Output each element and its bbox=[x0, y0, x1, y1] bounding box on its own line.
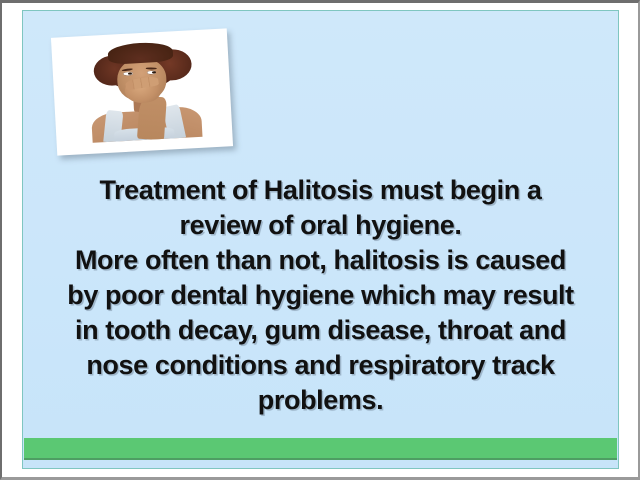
body-line: in tooth decay, gum disease, throat and bbox=[33, 313, 608, 348]
slide-body-text: Treatment of Halitosis must begin a revi… bbox=[23, 173, 618, 418]
photo-card bbox=[51, 28, 233, 155]
hair-top-shape bbox=[108, 41, 174, 64]
woman-covering-mouth-image bbox=[60, 38, 223, 144]
photo-image bbox=[60, 38, 223, 144]
body-line: nose conditions and respiratory track bbox=[33, 348, 608, 383]
slide-content-area: Treatment of Halitosis must begin a revi… bbox=[22, 10, 619, 469]
slide-paper: Treatment of Halitosis must begin a revi… bbox=[2, 3, 638, 477]
body-line: More often than not, halitosis is caused bbox=[33, 243, 608, 278]
body-line: review of oral hygiene. bbox=[33, 208, 608, 243]
footer-band bbox=[24, 438, 617, 460]
slide-viewport: Treatment of Halitosis must begin a revi… bbox=[0, 0, 640, 480]
eyebrow-right-shape bbox=[145, 67, 156, 69]
body-line: Treatment of Halitosis must begin a bbox=[33, 173, 608, 208]
body-line: by poor dental hygiene which may result bbox=[33, 278, 608, 313]
body-line: problems. bbox=[33, 383, 608, 418]
